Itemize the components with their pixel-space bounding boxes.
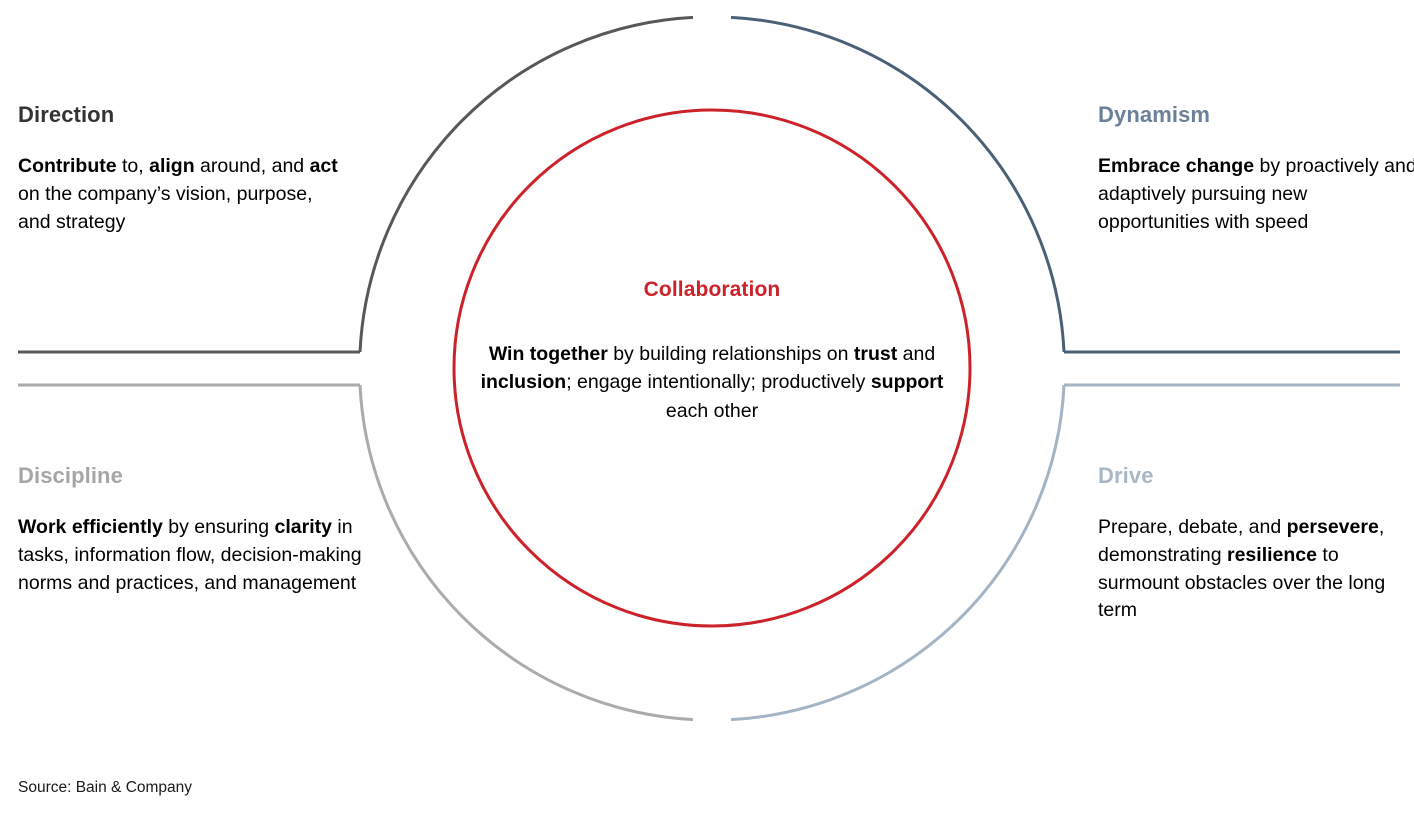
quadrant-dynamism-body: Embrace change by proactively and adapti… <box>1098 153 1414 236</box>
quadrant-drive: Drive Prepare, debate, and persevere, de… <box>1098 464 1410 625</box>
arc-discipline <box>360 385 693 720</box>
diagram-canvas: Direction Contribute to, align around, a… <box>0 0 1414 836</box>
quadrant-dynamism: Dynamism Embrace change by proactively a… <box>1098 103 1414 236</box>
quadrant-discipline-body: Work efficiently by ensuring clarity in … <box>18 514 378 597</box>
center-body: Win together by building relationships o… <box>480 340 944 425</box>
center-title: Collaboration <box>480 278 944 302</box>
quadrant-dynamism-heading: Dynamism <box>1098 103 1414 127</box>
quadrant-discipline-heading: Discipline <box>18 464 378 488</box>
quadrant-direction-heading: Direction <box>18 103 348 127</box>
quadrant-direction-body: Contribute to, align around, and act on … <box>18 153 348 236</box>
source-note: Source: Bain & Company <box>18 779 192 797</box>
center-collaboration: Collaboration Win together by building r… <box>480 278 944 425</box>
quadrant-drive-body: Prepare, debate, and persevere, demonstr… <box>1098 514 1410 625</box>
quadrant-direction: Direction Contribute to, align around, a… <box>18 103 348 236</box>
arc-drive <box>731 385 1064 720</box>
quadrant-discipline: Discipline Work efficiently by ensuring … <box>18 464 378 597</box>
quadrant-drive-heading: Drive <box>1098 464 1410 488</box>
